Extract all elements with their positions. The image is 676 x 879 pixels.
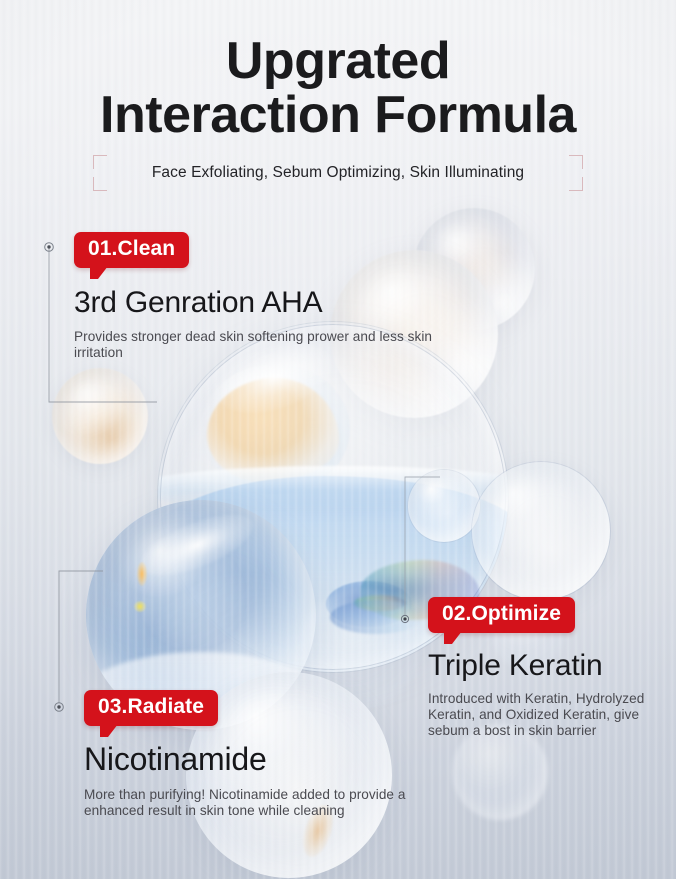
heading-02: Triple Keratin [428, 649, 672, 683]
title-line-2: Interaction Formula [0, 88, 676, 142]
poster-title: Upgrated Interaction Formula [0, 34, 676, 142]
body-03: More than purifying! Nicotinamide added … [84, 787, 434, 819]
heading-03: Nicotinamide [84, 742, 434, 778]
feature-section-01: 01.Clean 3rd Genration AHA Provides stro… [74, 232, 434, 361]
badge-03-radiate: 03.Radiate [84, 690, 218, 726]
feature-section-03: 03.Radiate Nicotinamide More than purify… [84, 690, 434, 819]
heading-01: 3rd Genration AHA [74, 286, 434, 320]
badge-02-optimize: 02.Optimize [428, 597, 575, 633]
subtitle-bracket-box: Face Exfoliating, Sebum Optimizing, Skin… [93, 155, 583, 191]
body-02: Introduced with Keratin, Hydrolyzed Kera… [428, 691, 672, 739]
subtitle-text: Face Exfoliating, Sebum Optimizing, Skin… [93, 155, 583, 191]
title-line-1: Upgrated [0, 34, 676, 88]
badge-01-clean: 01.Clean [74, 232, 189, 268]
feature-section-02: 02.Optimize Triple Keratin Introduced wi… [428, 597, 672, 739]
body-01: Provides stronger dead skin softening pr… [74, 329, 434, 361]
product-feature-poster: Upgrated Interaction Formula Face Exfoli… [0, 0, 676, 879]
poster-content: Upgrated Interaction Formula Face Exfoli… [0, 0, 676, 879]
